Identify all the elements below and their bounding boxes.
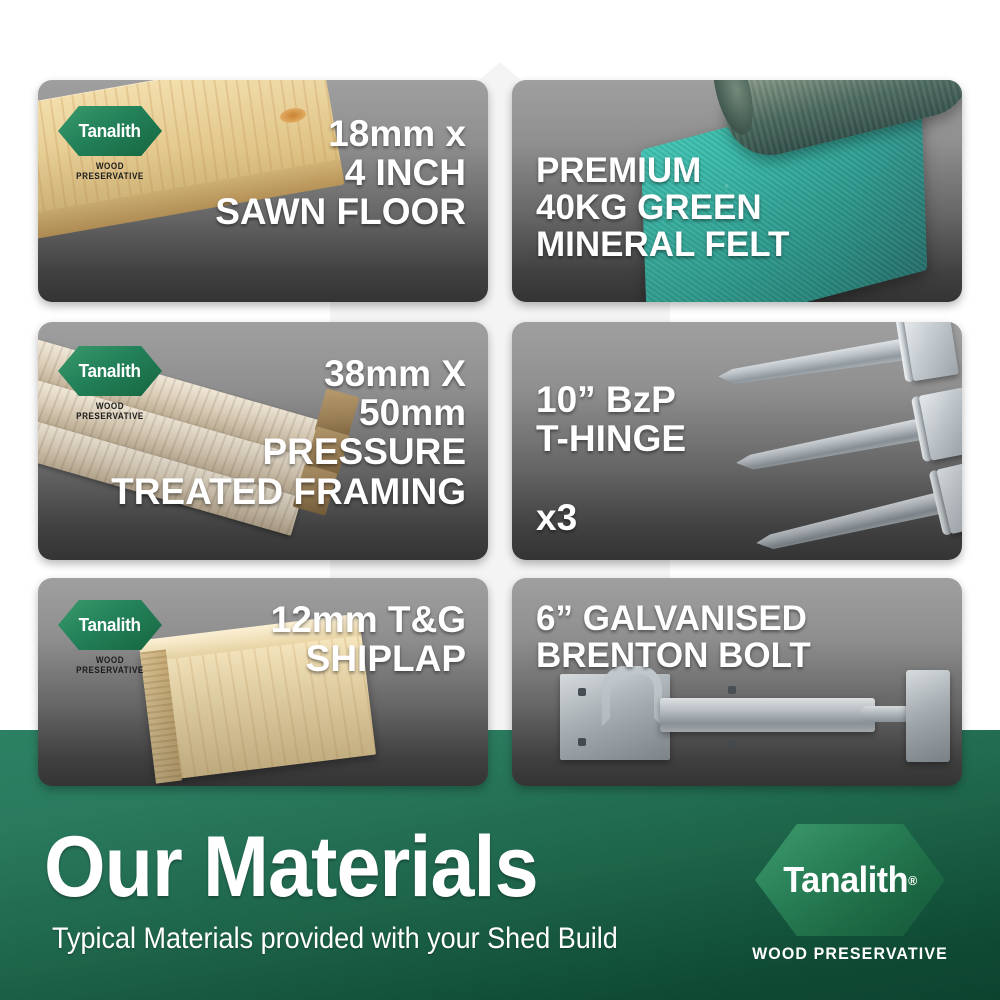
material-card-label: 12mm T&G SHIPLAP [271, 600, 466, 678]
material-card-brenton-bolt[interactable]: 6” GALVANISED BRENTON BOLT [512, 578, 962, 786]
bolt-padlock-hoop [602, 666, 662, 726]
tanalith-badge-name: Tanalith [79, 615, 141, 636]
material-card-sawn-floor[interactable]: Tanalith WOOD PRESERVATIVE 18mm x 4 INCH… [38, 80, 488, 302]
hinge-strap [734, 418, 925, 476]
tanalith-badge-name: Tanalith [79, 361, 141, 382]
bolt-keep [906, 670, 950, 762]
tanalith-hex-icon: Tanalith [58, 346, 162, 396]
tanalith-badge: Tanalith WOOD PRESERVATIVE [58, 600, 162, 675]
page-title: Our Materials [44, 824, 538, 910]
material-card-label: 10” BzP T-HINGE x3 [536, 380, 686, 537]
material-card-label: PREMIUM 40KG GREEN MINERAL FELT [536, 152, 789, 263]
materials-grid: Tanalith WOOD PRESERVATIVE 18mm x 4 INCH… [0, 0, 1000, 790]
brenton-bolt-image [560, 664, 950, 774]
poster-root: Our Materials Typical Materials provided… [0, 0, 1000, 1000]
brand-tagline: WOOD PRESERVATIVE [751, 944, 948, 964]
material-card-label: 18mm x 4 INCH SAWN FLOOR [215, 114, 466, 232]
material-card-mineral-felt[interactable]: PREMIUM 40KG GREEN MINERAL FELT [512, 80, 962, 302]
hinge-plate [903, 322, 959, 381]
bolt-fixing-hole [728, 686, 736, 694]
hinge-strap [754, 492, 944, 556]
tanalith-hex-icon: Tanalith® [755, 824, 945, 936]
bolt-fixing-hole [728, 740, 736, 748]
brand-name-text: Tanalith [783, 859, 908, 901]
tanalith-badge-tagline: WOOD PRESERVATIVE [63, 161, 157, 181]
material-card-label: 6” GALVANISED BRENTON BOLT [536, 600, 811, 674]
material-card-label: 38mm X 50mm PRESSURE TREATED FRAMING [111, 354, 466, 511]
tanalith-badge-name: Tanalith [79, 121, 141, 142]
brand-name: Tanalith® [760, 824, 941, 936]
hinge-strap [717, 338, 908, 389]
bolt-fixing-hole [578, 738, 586, 746]
tanalith-hex-icon: Tanalith [58, 600, 162, 650]
registered-mark: ® [908, 873, 917, 888]
tanalith-badge-tagline: WOOD PRESERVATIVE [63, 401, 157, 421]
tanalith-badge-tagline: WOOD PRESERVATIVE [63, 655, 157, 675]
bolt-rod [860, 706, 912, 722]
tanalith-badge: Tanalith WOOD PRESERVATIVE [58, 346, 162, 421]
tanalith-badge: Tanalith WOOD PRESERVATIVE [58, 106, 162, 181]
bolt-barrel [660, 698, 875, 732]
tanalith-hex-icon: Tanalith [58, 106, 162, 156]
page-subtitle: Typical Materials provided with your She… [52, 924, 618, 954]
material-card-framing[interactable]: Tanalith WOOD PRESERVATIVE 38mm X 50mm P… [38, 322, 488, 560]
material-card-shiplap[interactable]: Tanalith WOOD PRESERVATIVE 12mm T&G SHIP… [38, 578, 488, 786]
bolt-fixing-hole [578, 688, 586, 696]
tanalith-brand-lockup: Tanalith® WOOD PRESERVATIVE [745, 824, 955, 960]
material-card-t-hinge[interactable]: 10” BzP T-HINGE x3 [512, 322, 962, 560]
